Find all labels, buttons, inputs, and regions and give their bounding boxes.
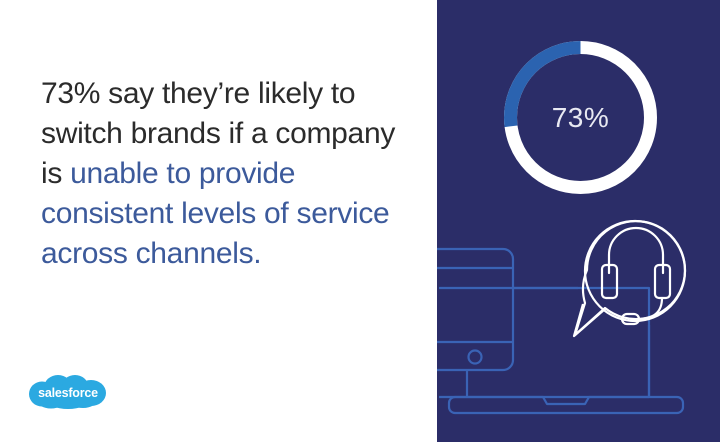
salesforce-logo: salesforce: [25, 375, 111, 409]
page-headline: 73% say they’re likely to switch brands …: [41, 74, 423, 274]
speech-bubble-tail: [574, 304, 605, 336]
smartphone-home-button: [469, 351, 482, 364]
speech-bubble: [575, 221, 685, 335]
donut-center-label: 73%: [503, 40, 658, 195]
devices-illustration-svg: [437, 215, 720, 442]
laptop-base: [449, 397, 683, 413]
infographic-page: 73% say they’re likely to switch brands …: [0, 0, 720, 442]
right-panel: 73%: [437, 0, 720, 442]
donut-chart: 73%: [503, 40, 658, 195]
devices-illustration: [437, 215, 720, 442]
salesforce-wordmark: salesforce: [25, 375, 111, 409]
left-panel: 73% say they’re likely to switch brands …: [0, 0, 437, 442]
headline-accent-text: unable to provide consistent levels of s…: [41, 157, 389, 270]
